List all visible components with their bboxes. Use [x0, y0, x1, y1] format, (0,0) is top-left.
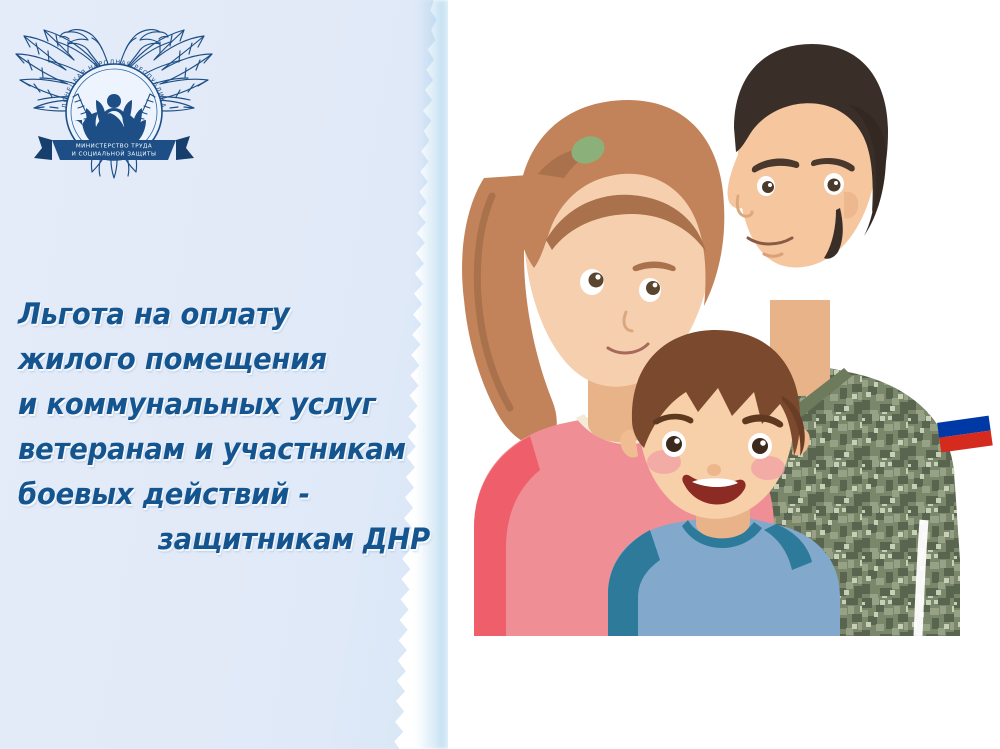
- headline-line-4: ветеранам и участникам: [18, 427, 401, 472]
- headline: Льгота на оплату жилого помещения и комм…: [18, 292, 430, 562]
- poster-root: ДОНЕЦКАЯ НАРОДНАЯ РЕСПУБЛИКА МИНИСТЕРСТВ…: [0, 0, 1000, 749]
- family-illustration: [448, 0, 1000, 749]
- emblem-banner-line1: МИНИСТЕРСТВО ТРУДА: [76, 144, 152, 150]
- headline-line-3: и коммунальных услуг: [18, 382, 401, 427]
- emblem-banner-line2: И СОЦИАЛЬНОЙ ЗАЩИТЫ: [72, 151, 157, 158]
- ministry-emblem-icon: ДОНЕЦКАЯ НАРОДНАЯ РЕСПУБЛИКА МИНИСТЕРСТВ…: [8, 8, 220, 190]
- russian-flag-patch: [935, 401, 993, 453]
- headline-line-6: защитникам ДНР: [47, 517, 430, 562]
- headline-line-1: Льгота на оплату: [18, 292, 401, 337]
- headline-line-2: жилого помещения: [18, 337, 401, 382]
- headline-line-5: боевых действий -: [18, 472, 401, 517]
